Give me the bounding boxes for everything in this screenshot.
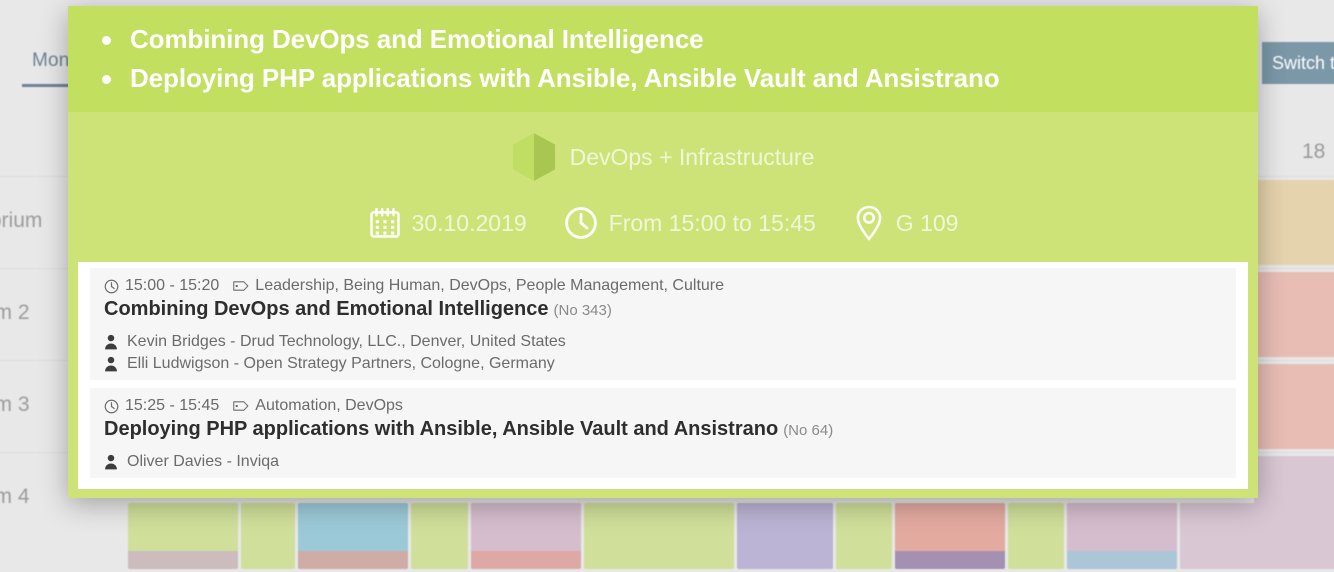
modal-meta: DevOps + Infrastructure 30.10.2019: [68, 112, 1258, 260]
talk-time: 15:00 - 15:20: [125, 277, 219, 295]
speaker-item: Elli Ludwigson - Open Strategy Partners,…: [104, 355, 1222, 373]
session-block[interactable]: [298, 503, 408, 569]
grid-row-bottom: [128, 500, 1334, 572]
talk-number: (No 343): [554, 302, 612, 319]
time-label: From 15:00 to 15:45: [609, 210, 816, 237]
clock-icon: [104, 399, 119, 414]
modal-talk-list: 15:00 - 15:20 Leadership, Being Human, D…: [78, 262, 1248, 489]
hexagon-icon: [512, 132, 556, 182]
talk-title: Combining DevOps and Emotional Intellige…: [104, 298, 1222, 321]
room-label: Room 3: [0, 393, 30, 417]
time-meta: From 15:00 to 15:45: [563, 205, 816, 241]
session-block[interactable]: [241, 503, 295, 569]
session-block[interactable]: [1254, 272, 1334, 357]
room-label: Auditorium: [0, 209, 42, 233]
session-block[interactable]: [737, 503, 833, 569]
person-icon: [104, 334, 118, 350]
speaker-item: Oliver Davies - Inviqa: [104, 453, 1222, 471]
talk-title-text: Deploying PHP applications with Ansible,…: [104, 418, 778, 440]
day-tab-label: Mon: [32, 50, 70, 71]
modal-title-item: Deploying PHP applications with Ansible,…: [130, 59, 1228, 98]
session-block[interactable]: [128, 503, 238, 569]
location-pin-icon: [852, 204, 886, 242]
person-icon: [104, 356, 118, 372]
track-row: DevOps + Infrastructure: [68, 130, 1258, 184]
calendar-icon: [368, 206, 402, 240]
session-strip: [298, 551, 408, 569]
session-strip: [1067, 551, 1177, 569]
meta-row: 30.10.2019 From 15:00 to 15:45 G 109: [68, 204, 1258, 242]
session-block[interactable]: [895, 503, 1005, 569]
session-block[interactable]: [836, 503, 892, 569]
talk-number: (No 64): [783, 422, 833, 439]
talk-line-meta: 15:25 - 15:45 Automation, DevOps: [104, 397, 1222, 415]
talk-tags: Automation, DevOps: [255, 397, 403, 415]
modal-title-list: Combining DevOps and Emotional Intellige…: [68, 20, 1258, 98]
talk-time: 15:25 - 15:45: [125, 397, 219, 415]
tag-icon: [233, 279, 249, 293]
tag-icon: [233, 399, 249, 413]
talk-title-text: Combining DevOps and Emotional Intellige…: [104, 298, 549, 320]
track-label: DevOps + Infrastructure: [570, 144, 815, 171]
time-tick-label: 18: [1302, 140, 1325, 164]
session-strip: [895, 551, 1005, 569]
session-block[interactable]: [584, 503, 734, 569]
talk-speakers: Kevin Bridges - Drud Technology, LLC., D…: [104, 333, 1222, 373]
speaker-name: Kevin Bridges - Drud Technology, LLC., D…: [127, 333, 566, 351]
session-detail-modal: Combining DevOps and Emotional Intellige…: [68, 6, 1258, 498]
session-block[interactable]: [1067, 503, 1177, 569]
session-block[interactable]: [1180, 503, 1334, 569]
date-label: 30.10.2019: [412, 210, 527, 237]
talk-item[interactable]: 15:00 - 15:20 Leadership, Being Human, D…: [90, 268, 1236, 380]
talk-item[interactable]: 15:25 - 15:45 Automation, DevOps Deployi…: [90, 388, 1236, 478]
session-strip: [128, 551, 238, 569]
room-label: Room 4: [0, 485, 30, 509]
session-strip: [471, 551, 581, 569]
talk-speakers: Oliver Davies - Inviqa: [104, 453, 1222, 471]
speaker-item: Kevin Bridges - Drud Technology, LLC., D…: [104, 333, 1222, 351]
speaker-name: Elli Ludwigson - Open Strategy Partners,…: [127, 355, 555, 373]
vertical-view-toggle-label: Switch to vertical view: [1272, 53, 1334, 73]
person-icon: [104, 454, 118, 470]
talk-title: Deploying PHP applications with Ansible,…: [104, 418, 1222, 441]
clock-icon: [104, 279, 119, 294]
talk-tags: Leadership, Being Human, DevOps, People …: [255, 277, 724, 295]
room-label: G 109: [896, 210, 959, 237]
session-block[interactable]: [1254, 364, 1334, 449]
date-meta: 30.10.2019: [368, 206, 527, 240]
session-block[interactable]: [1008, 503, 1064, 569]
clock-icon: [563, 205, 599, 241]
session-block[interactable]: [1254, 180, 1334, 265]
vertical-view-toggle-button[interactable]: Switch to vertical view: [1262, 42, 1334, 84]
room-label: Room 2: [0, 301, 30, 325]
day-tab-mon[interactable]: Mon: [32, 50, 70, 72]
modal-titlebar: Combining DevOps and Emotional Intellige…: [68, 6, 1258, 112]
modal-title-item: Combining DevOps and Emotional Intellige…: [130, 20, 1228, 59]
session-block[interactable]: [471, 503, 581, 569]
session-block[interactable]: [411, 503, 468, 569]
room-meta: G 109: [852, 204, 959, 242]
talk-line-meta: 15:00 - 15:20 Leadership, Being Human, D…: [104, 277, 1222, 295]
speaker-name: Oliver Davies - Inviqa: [127, 453, 279, 471]
